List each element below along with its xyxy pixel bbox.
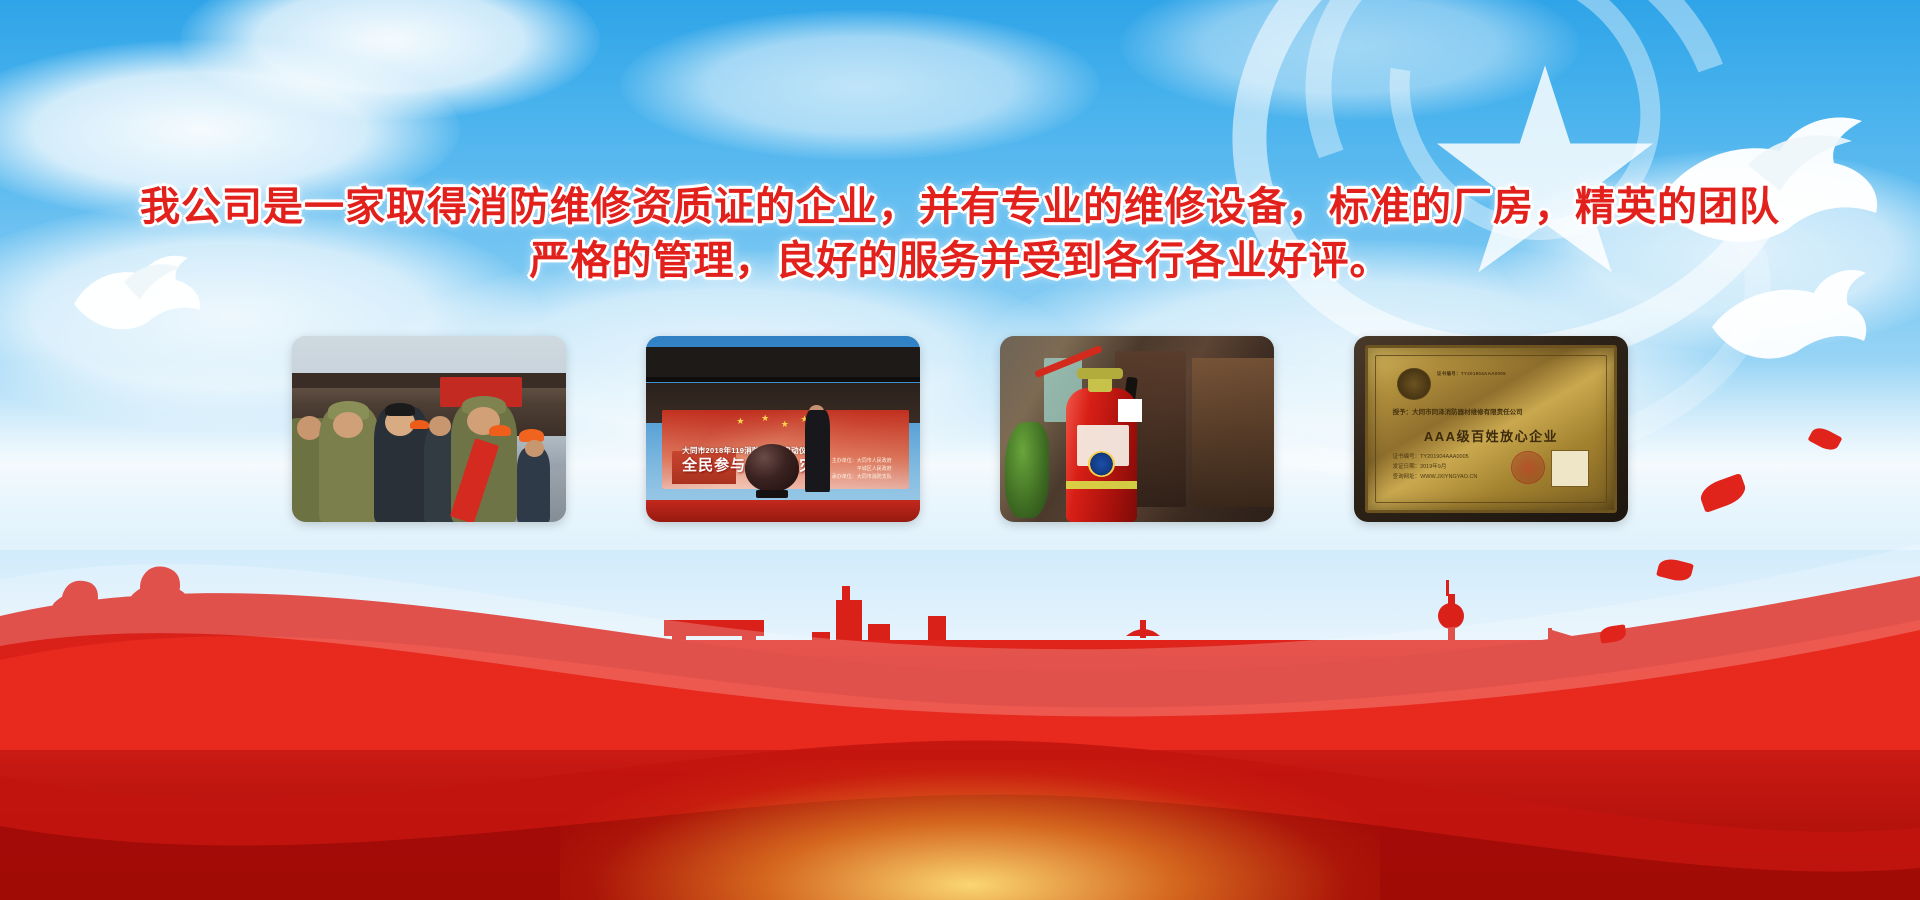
qr-code-icon <box>1551 450 1590 488</box>
organizer-line: 平城区人民政府 <box>832 465 892 473</box>
extinguisher-strap <box>1066 481 1137 488</box>
temple-roof <box>646 347 920 380</box>
event-organizer-text: 主办单位：大同市人民政府 平城区人民政府 承办单位：大同市消防支队 <box>832 457 892 481</box>
orange-cap <box>489 425 511 436</box>
extinguisher-neck <box>1088 377 1113 392</box>
hair-cap <box>385 403 415 416</box>
cloud-blob <box>1120 0 1580 120</box>
flag-star-icon: ★ <box>761 414 769 423</box>
plaque-meta-line: 证书编号：TY201904AAA0005 <box>1393 452 1478 462</box>
plaque-meta-line: 发证日期：2019年9月 <box>1393 462 1478 472</box>
potted-plant <box>1005 422 1049 519</box>
person-head <box>525 440 544 457</box>
wooden-shelf <box>1192 358 1274 507</box>
flag-star-icon: ★ <box>736 417 744 426</box>
ceremony-sphere <box>745 444 800 492</box>
speaker-figure <box>805 410 830 492</box>
person-silhouette <box>517 448 550 522</box>
stage-front <box>646 500 920 522</box>
plaque-meta-text: 证书编号：TY201904AAA0005 发证日期：2019年9月 查询网址：W… <box>1393 452 1478 483</box>
temple-roof <box>292 373 566 388</box>
bronze-plaque: 证书编号：TY201904AAA0005 授予：大同市同泽消防器材维修有限责任公… <box>1365 345 1617 512</box>
organizer-line: 主办单位：大同市人民政府 <box>832 457 892 465</box>
plaque-award-text: 授予：大同市同泽消防器材维修有限责任公司 <box>1393 406 1523 416</box>
organizer-line: 承办单位：大同市消防支队 <box>832 473 892 481</box>
plaque-header-text: 证书编号：TY201904AAA0005 <box>1437 371 1506 377</box>
photo-inspection[interactable] <box>292 336 566 522</box>
sphere-base <box>756 490 789 497</box>
photo-gallery-strip: ★ ★ ★ ★ 大同市2018年119消防宣传月启动仪式 全民参与 防治火灾 主… <box>0 336 1920 524</box>
plaque-meta-line: 查询网址：WWW.JXIYNGYAO.CN <box>1393 472 1478 482</box>
flag-star-icon: ★ <box>781 420 789 429</box>
page-title-line-2: 严格的管理，良好的服务并受到各行各业好评。 <box>0 232 1920 290</box>
extinguisher-valve <box>1077 368 1124 379</box>
cloud-blob <box>180 0 600 120</box>
orange-cap <box>410 420 429 429</box>
official-seal-icon <box>1511 451 1545 484</box>
qr-code-icon <box>1118 399 1143 421</box>
page-title-line-1: 我公司是一家取得消防维修资质证的企业，并有专业的维修设备，标准的厂房，精英的团队 <box>0 178 1920 236</box>
cloud-blob <box>620 10 1100 160</box>
photo-extinguisher[interactable] <box>1000 336 1274 522</box>
photo-ceremony[interactable]: ★ ★ ★ ★ 大同市2018年119消防宣传月启动仪式 全民参与 防治火灾 主… <box>646 336 920 522</box>
photo-plaque[interactable]: 证书编号：TY201904AAA0005 授予：大同市同泽消防器材维修有限责任公… <box>1354 336 1628 522</box>
plaque-main-title: AAA级百姓放心企业 <box>1368 426 1614 445</box>
red-ribbon-base <box>0 640 1920 900</box>
fire-safety-promo-banner: 我公司是一家取得消防维修资质证的企业，并有专业的维修设备，标准的厂房，精英的团队… <box>0 0 1920 900</box>
